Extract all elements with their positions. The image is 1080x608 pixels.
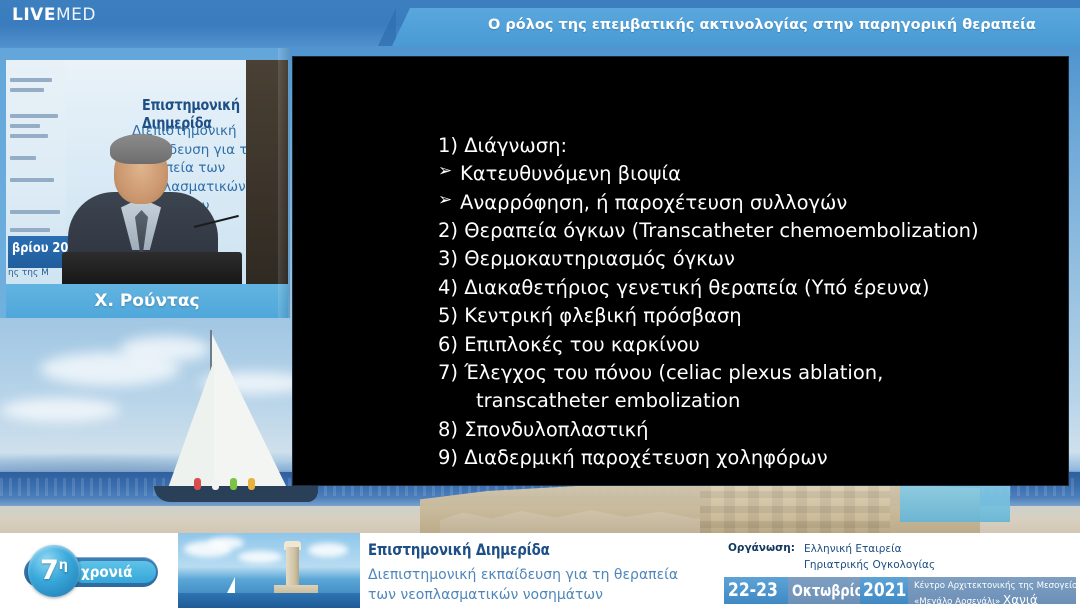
event-subtitle: Διεπιστημονική εκπαίδευση για τη θεραπεί… — [368, 566, 708, 606]
boat-crew-1 — [194, 478, 201, 490]
speaker-name: Χ. Ρούντας — [94, 291, 199, 311]
speaker-name-bar: Χ. Ρούντας — [6, 284, 288, 318]
backdrop-footer-text: ης της Μ — [8, 268, 49, 278]
photo-sea — [178, 593, 360, 608]
slide-line: 1) Διάγνωση: — [438, 132, 1058, 160]
slide-line: 6) Επιπλοκές του καρκίνου — [438, 331, 1058, 359]
fortress-wall — [700, 476, 890, 538]
boat-mainsail — [212, 334, 288, 490]
slide-line: 8) Σπονδυλοπλαστική — [438, 416, 1058, 444]
organizer-line-2: Γηριατρικής Ογκολογίας — [804, 558, 935, 574]
slide-line: 3) Θερμοκαυτηριασμός όγκων — [438, 245, 1058, 273]
slide-line: transcatheter embolization — [438, 387, 1058, 415]
event-subtitle-line-2: των νεοπλασματικών νοσημάτων — [368, 586, 708, 606]
boat-crew-3 — [230, 478, 237, 490]
slide-line: 9) Διαδερμική παροχέτευση χοληφόρων — [438, 444, 1058, 472]
lighthouse-photo — [178, 533, 360, 608]
event-title: Επιστημονική Διημερίδα — [368, 541, 660, 559]
backdrop-dark-panel — [246, 60, 288, 284]
organizer-line-1: Ελληνική Εταιρεία — [804, 542, 935, 558]
anniversary-logo: χρονιά 7η — [0, 533, 178, 608]
footer-bar: χρονιά 7η Επιστημονική Διημερίδα Διεπισ — [0, 533, 1080, 608]
top-bar: LIVEMED Ο ρόλος της επεμβατικής ακτινολο… — [0, 0, 1080, 46]
anniversary-ordinal: η — [59, 558, 68, 573]
session-title-banner: Ο ρόλος της επεμβατικής ακτινολογίας στη… — [392, 8, 1080, 46]
slide-line: 7) Έλεγχος του πόνου (celiac plexus abla… — [438, 359, 1058, 387]
speaker-video[interactable]: Επιστημονική Διημερίδα Διεπιστημονική εκ… — [6, 60, 288, 284]
date-year: 2021 — [863, 579, 906, 601]
slide-line: 5) Κεντρική φλεβική πρόσβαση — [438, 302, 1058, 330]
cloud-3 — [0, 398, 120, 422]
date-days: 22-23 — [728, 579, 778, 601]
banner-notch — [378, 8, 396, 46]
speaker-video-panel[interactable]: Επιστημονική Διημερίδα Διεπιστημονική εκ… — [0, 48, 290, 318]
organizer-name: Ελληνική Εταιρεία Γηριατρικής Ογκολογίας — [804, 542, 935, 574]
anniversary-word: χρονιά — [81, 563, 132, 581]
slide-line: Αναρρόφηση, ή παροχέτευση συλλογών — [438, 189, 1058, 217]
slide-line: 4) Διακαθετήριος γενετική θεραπεία (Υπό … — [438, 274, 1058, 302]
event-subtitle-line-1: Διεπιστημονική εκπαίδευση για τη θεραπεί… — [368, 566, 708, 586]
broadcast-stage: LIVEMED Ο ρόλος της επεμβατικής ακτινολο… — [0, 0, 1080, 608]
organizer-label-text: Οργάνωση: — [728, 542, 795, 554]
boat-crew-4 — [248, 478, 255, 490]
backdrop-date-text: βρίου 20 — [12, 241, 68, 256]
date-year-box: 2021 — [860, 577, 908, 604]
anniversary-badge: 7η — [28, 545, 80, 597]
slide-line: 2) Θεραπεία όγκων (Transcatheter chemoem… — [438, 217, 1058, 245]
slide-line: Κατευθυνόμενη βιοψία — [438, 160, 1058, 188]
boat-jib — [168, 360, 214, 488]
anniversary-number: 7 — [40, 555, 59, 586]
date-venue-bar: 22-23 Οκτωβρίου 2021 Κέντρο Αρχιτεκτονικ… — [724, 577, 1076, 604]
session-title: Ο ρόλος της επεμβατικής ακτινολογίας στη… — [488, 17, 1036, 33]
livemed-logo[interactable]: LIVEMED — [12, 5, 96, 25]
venue-line-1: Κέντρο Αρχιτεκτονικής της Μεσογείου — [914, 580, 1076, 592]
presentation-slide[interactable]: 1) Διάγνωση:Κατευθυνόμενη βιοψίαΑναρρόφη… — [293, 57, 1068, 485]
event-info: Επιστημονική Διημερίδα Διεπιστημονική εκ… — [368, 537, 708, 605]
slide-content: 1) Διάγνωση:Κατευθυνόμενη βιοψίαΑναρρόφη… — [438, 132, 1058, 472]
venue-info: Κέντρο Αρχιτεκτονικής της Μεσογείου «Μεγ… — [914, 580, 1076, 608]
logo-med-text: MED — [56, 5, 96, 25]
logo-live-text: LIVE — [12, 5, 56, 25]
organizer-label: Οργάνωση: — [728, 542, 795, 554]
organizer-and-date: Οργάνωση: Ελληνική Εταιρεία Γηριατρικής … — [718, 533, 1080, 608]
venue-line-2a: «Μεγάλο Αρσενάλι» — [914, 597, 1000, 607]
podium — [62, 252, 242, 284]
anniversary-word-pill: χρονιά — [72, 561, 156, 583]
venue-city: Χανιά — [1003, 593, 1038, 607]
speaker-hair — [110, 134, 172, 164]
boat-crew-2 — [212, 478, 219, 490]
